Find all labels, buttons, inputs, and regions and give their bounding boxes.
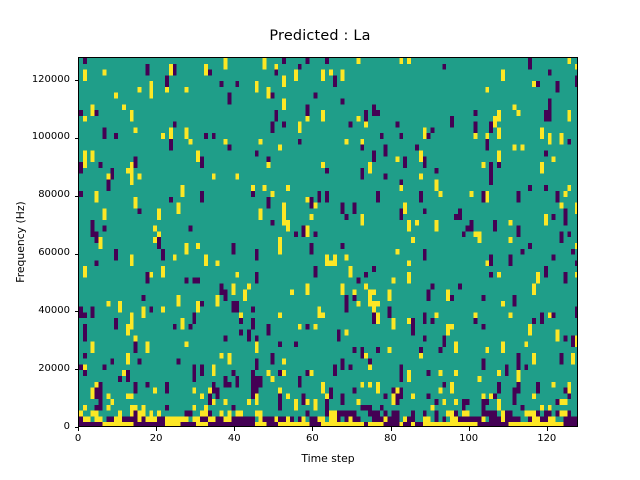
x-tick-label: 100 (439, 433, 499, 444)
x-tick-mark (391, 427, 392, 431)
x-tick-mark (312, 427, 313, 431)
x-axis-label: Time step (78, 452, 578, 465)
y-tick-mark (75, 254, 79, 255)
matplotlib-figure: Predicted : La 020406080100120 020000400… (0, 0, 640, 480)
heatmap-image (79, 58, 578, 427)
heatmap-plot-area (78, 57, 578, 427)
page-title: Predicted : La (0, 28, 640, 44)
y-tick-label: 120000 (32, 74, 70, 85)
y-tick-mark (75, 196, 79, 197)
y-tick-label: 80000 (38, 189, 70, 200)
x-tick-mark (547, 427, 548, 431)
y-axis-label: Frequency (Hz) (14, 57, 30, 427)
y-tick-mark (75, 80, 79, 81)
x-tick-label: 0 (48, 433, 108, 444)
x-tick-label: 40 (204, 433, 264, 444)
x-tick-label: 80 (361, 433, 421, 444)
y-tick-mark (75, 427, 79, 428)
y-tick-mark (75, 369, 79, 370)
x-tick-mark (156, 427, 157, 431)
y-tick-label: 60000 (38, 247, 70, 258)
y-tick-label: 100000 (32, 131, 70, 142)
x-tick-mark (234, 427, 235, 431)
x-tick-mark (78, 427, 79, 431)
y-tick-label: 40000 (38, 305, 70, 316)
y-tick-mark (75, 138, 79, 139)
x-tick-label: 120 (517, 433, 577, 444)
y-tick-label: 20000 (38, 363, 70, 374)
x-tick-mark (469, 427, 470, 431)
y-tick-mark (75, 311, 79, 312)
x-tick-label: 60 (282, 433, 342, 444)
y-tick-label: 0 (64, 421, 70, 432)
x-tick-label: 20 (126, 433, 186, 444)
